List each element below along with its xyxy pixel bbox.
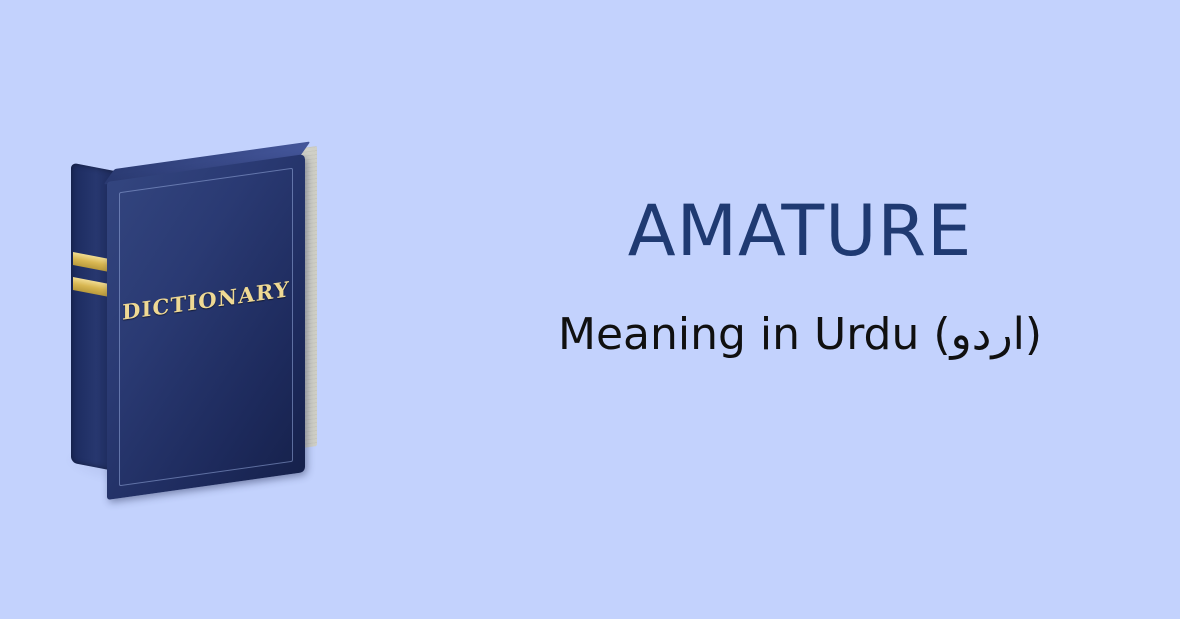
meaning-subtitle-suffix: ) [1025, 309, 1042, 360]
meaning-subtitle: Meaning in Urdu (اردو) [460, 309, 1140, 360]
headword-title: AMATURE [460, 195, 1140, 269]
word-text-block: AMATURE Meaning in Urdu (اردو) [460, 195, 1140, 360]
page-canvas: DICTIONARY AMATURE Meaning in Urdu (اردو… [0, 0, 1180, 619]
meaning-subtitle-urdu: اردو [951, 309, 1025, 360]
meaning-subtitle-prefix: Meaning in Urdu ( [558, 309, 951, 360]
book-front-cover: DICTIONARY [107, 154, 305, 500]
book-cover-border [119, 168, 293, 486]
dictionary-book-illustration: DICTIONARY [55, 130, 325, 500]
